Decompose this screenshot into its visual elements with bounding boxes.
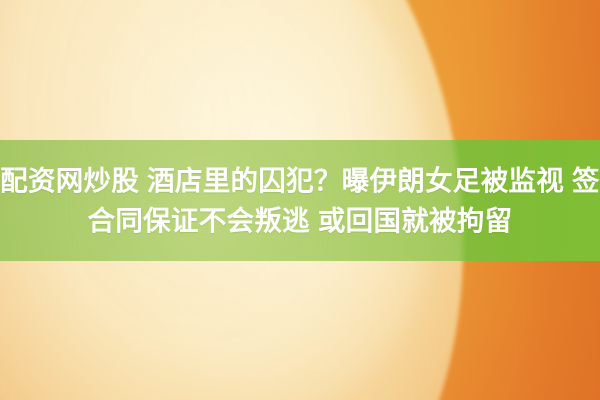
headline-line-1: 配资网炒股 酒店里的囚犯？曝伊朗女足被监视 签 <box>0 166 600 196</box>
headline-line-2: 合同保证不会叛逃 或回国就被拘留 <box>88 206 513 236</box>
headline-block: 配资网炒股 酒店里的囚犯？曝伊朗女足被监视 签 合同保证不会叛逃 或回国就被拘留 <box>0 140 600 261</box>
promo-banner: 配资网炒股 酒店里的囚犯？曝伊朗女足被监视 签 合同保证不会叛逃 或回国就被拘留 <box>0 0 600 400</box>
